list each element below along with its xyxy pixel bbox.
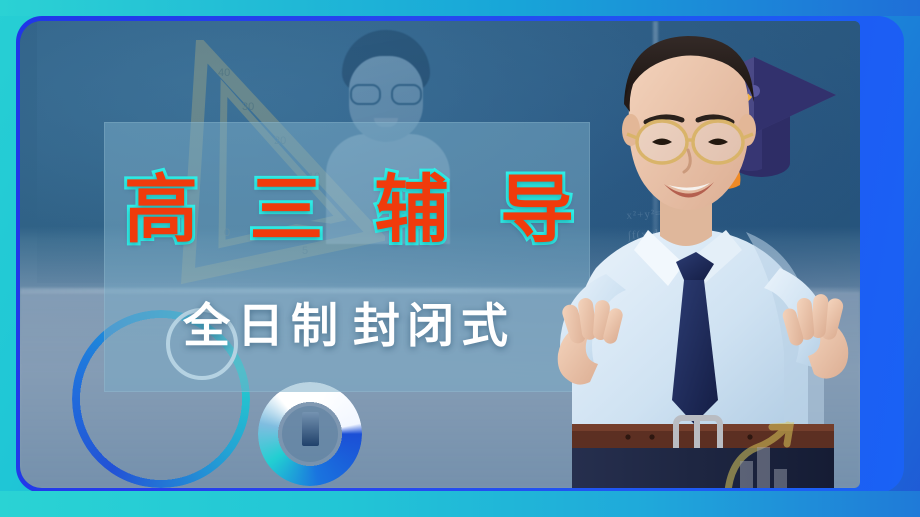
headline-char-1: 高 bbox=[124, 173, 198, 247]
headline-char-2: 三 bbox=[249, 173, 323, 247]
text-overlay-panel bbox=[104, 122, 590, 392]
headline-char-4: 导 bbox=[500, 173, 574, 247]
teacher-photo-subject bbox=[536, 21, 860, 488]
bottom-cyan-border bbox=[0, 491, 920, 517]
svg-text:30: 30 bbox=[242, 101, 254, 113]
inner-blue-frame: x²+y²=r² ∫f(x)dx sinθ·cosθ a²+b²=c² lim … bbox=[16, 16, 904, 493]
page-title: 高 三 辅 导 bbox=[124, 173, 574, 247]
poster-stage: x²+y²=r² ∫f(x)dx sinθ·cosθ a²+b²=c² lim … bbox=[20, 21, 860, 488]
top-cyan-border bbox=[0, 0, 920, 16]
headline-char-3: 辅 bbox=[375, 173, 449, 247]
donut-ring-marker bbox=[302, 412, 319, 446]
brand-watermark-logo bbox=[710, 421, 802, 488]
poster-canvas: x²+y²=r² ∫f(x)dx sinθ·cosθ a²+b²=c² lim … bbox=[0, 0, 920, 517]
svg-text:40: 40 bbox=[218, 67, 230, 79]
subtitle-group-2: 封闭式 bbox=[353, 303, 515, 350]
subtitle-group-1: 全日制 bbox=[183, 303, 345, 350]
page-subtitle: 全日制 封闭式 bbox=[124, 303, 574, 350]
ghost-teacher-glasses bbox=[350, 84, 422, 101]
